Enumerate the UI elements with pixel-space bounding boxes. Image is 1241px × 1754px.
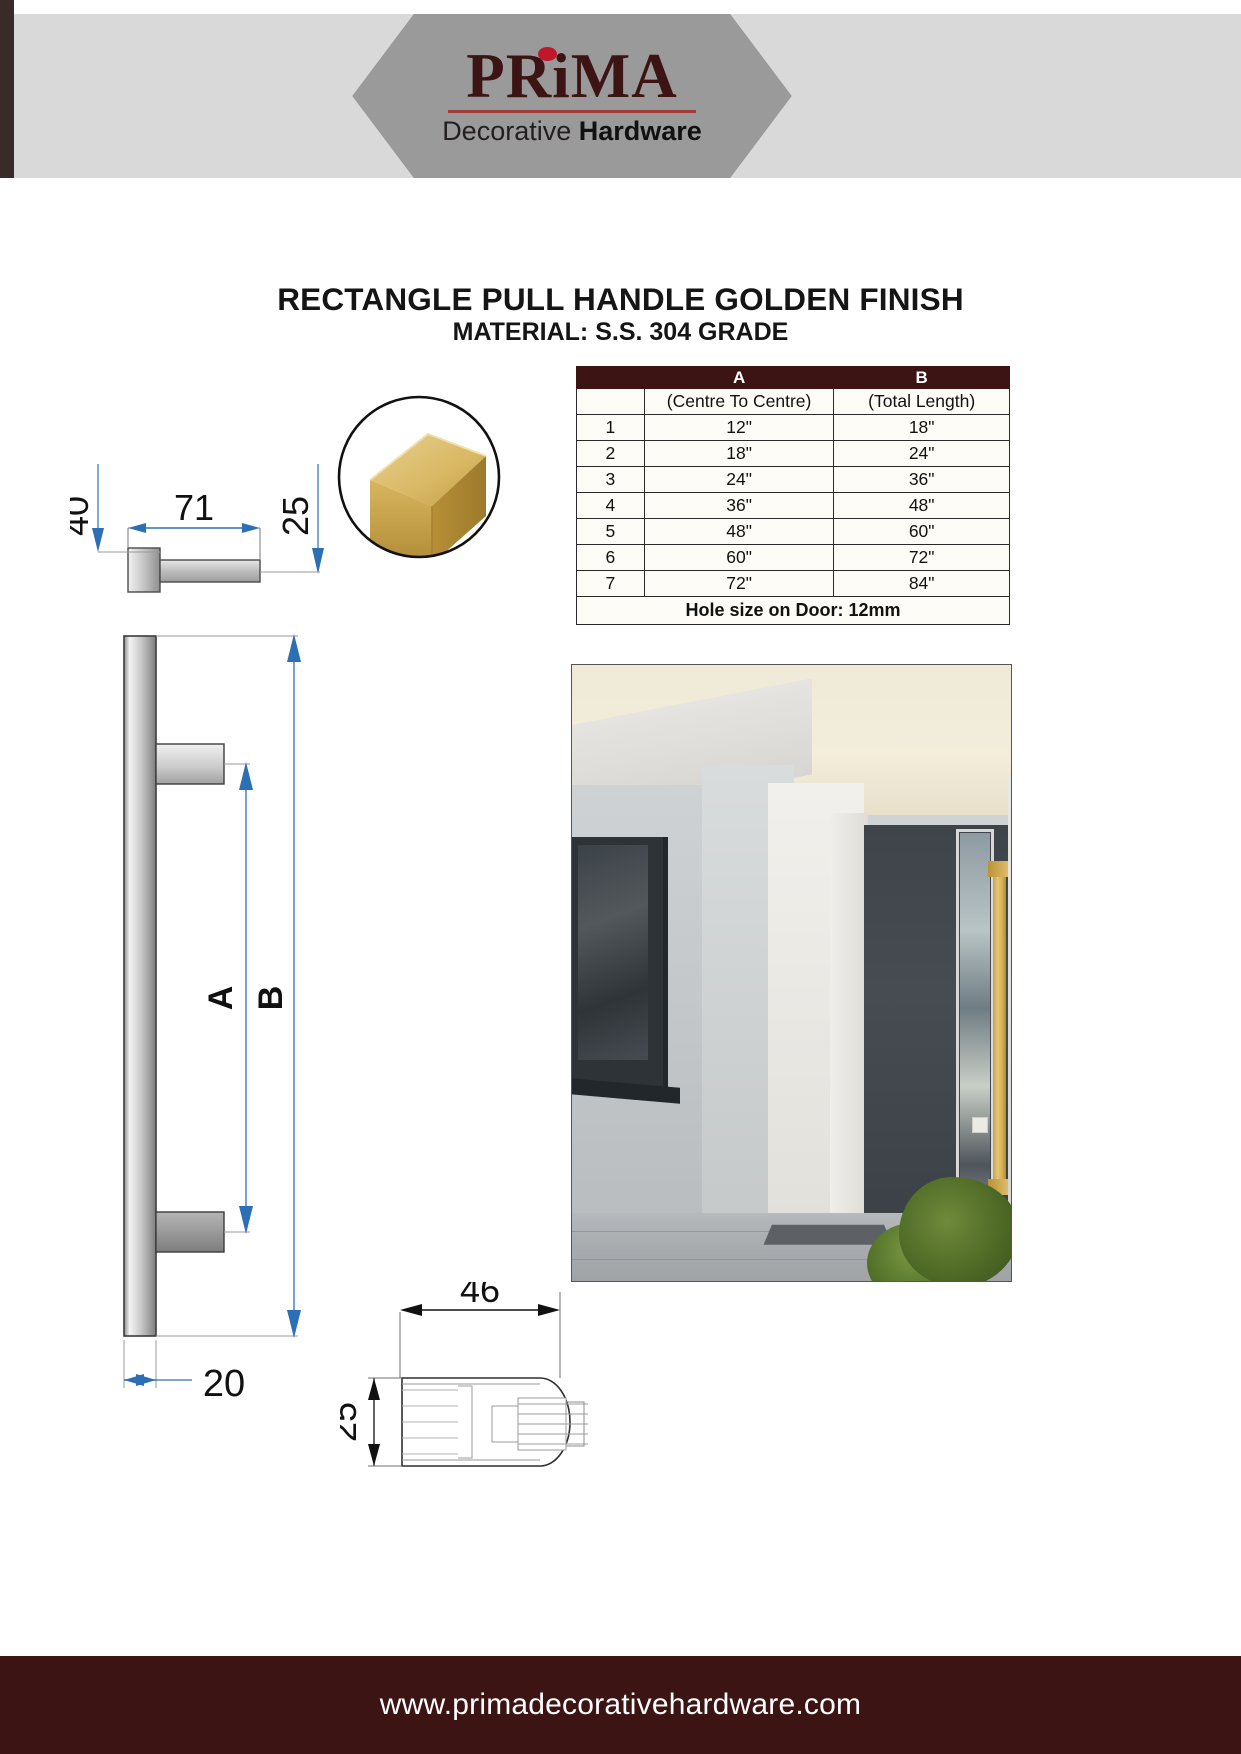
subheader-a: (Centre To Centre) [644,389,834,415]
page-subtitle: MATERIAL: S.S. 304 GRADE [0,318,1241,347]
table-header-row: A B [577,367,1010,389]
standoff-detail-drawing: 46 25 [340,1282,670,1522]
photo-shrub-front [899,1177,1012,1282]
table-row: 3 24" 36" [577,467,1010,493]
dim-71-label: 71 [174,487,214,528]
photo-wall-socket [972,1117,988,1133]
row-b: 24" [834,441,1010,467]
row-a: 36" [644,493,834,519]
photo-sidelight-frame [956,829,994,1227]
logo-tagline-part1: Decorative [442,116,579,146]
header-left-accent [0,0,14,178]
dim-46-label: 46 [460,1282,500,1310]
row-index: 5 [577,519,645,545]
table-row: 5 48" 60" [577,519,1010,545]
row-b: 84" [834,571,1010,597]
top-view-drawing: 71 40 25 [70,420,360,620]
logo-i-dot-icon [538,47,557,61]
row-a: 24" [644,467,834,493]
photo-pull-handle [993,865,1006,1195]
subheader-b: (Total Length) [834,389,1010,415]
table-row: 1 12" 18" [577,415,1010,441]
dim-B-label: B [252,986,290,1011]
photo-handle-top-boss [988,861,1010,877]
row-b: 18" [834,415,1010,441]
page-title: RECTANGLE PULL HANDLE GOLDEN FINISH [0,281,1241,318]
logo-tagline-part2: Hardware [579,116,702,146]
datasheet-page: PRiMA Decorative Hardware RECTANGLE PULL… [0,0,1241,1754]
row-index: 4 [577,493,645,519]
photo-door-jamb [830,813,868,1233]
logo-tagline: Decorative Hardware [442,116,702,147]
row-b: 60" [834,519,1010,545]
row-b: 48" [834,493,1010,519]
header-b: B [834,367,1010,389]
table-row: 6 60" 72" [577,545,1010,571]
subheader-index [577,389,645,415]
logo-wordmark: PRiMA [442,45,702,108]
row-a: 12" [644,415,834,441]
row-b: 36" [834,467,1010,493]
photo-window [572,837,668,1087]
row-a: 60" [644,545,834,571]
row-b: 72" [834,545,1010,571]
photo-window-glass [578,845,648,1060]
specification-table: A B (Centre To Centre) (Total Length) 1 … [576,366,1010,625]
dim-25-top-label: 25 [275,496,316,536]
page-footer: www.primadecorativehardware.com [0,1656,1241,1754]
row-index: 1 [577,415,645,441]
logo-wrap: PRiMA Decorative Hardware [442,45,702,147]
header-a: A [644,367,834,389]
dim-40-label: 40 [70,496,96,536]
table-row: 4 36" 48" [577,493,1010,519]
hole-size-note: Hole size on Door: 12mm [577,597,1010,625]
row-index: 7 [577,571,645,597]
row-index: 3 [577,467,645,493]
dim-20-label: 20 [203,1363,245,1405]
table-footer-row: Hole size on Door: 12mm [577,597,1010,625]
elevation-width-dim: 20 [100,1340,300,1440]
photo-right-wall [1008,775,1012,1235]
table-row: 2 18" 24" [577,441,1010,467]
website-url[interactable]: www.primadecorativehardware.com [380,1688,861,1722]
dim-25-detail-label: 25 [340,1402,364,1442]
row-a: 72" [644,571,834,597]
header-index [577,367,645,389]
gold-profile-inset [336,394,502,560]
row-index: 6 [577,545,645,571]
row-index: 2 [577,441,645,467]
dim-A-label: A [202,986,240,1011]
table-row: 7 72" 84" [577,571,1010,597]
row-a: 18" [644,441,834,467]
brand-logo: PRiMA Decorative Hardware [352,14,792,178]
installation-photo [571,664,1012,1282]
row-a: 48" [644,519,834,545]
elevation-drawing: B A [110,628,440,1368]
table-subheader-row: (Centre To Centre) (Total Length) [577,389,1010,415]
logo-wordmark-text: PRiMA [466,41,677,111]
header-top-strip [0,0,1241,14]
